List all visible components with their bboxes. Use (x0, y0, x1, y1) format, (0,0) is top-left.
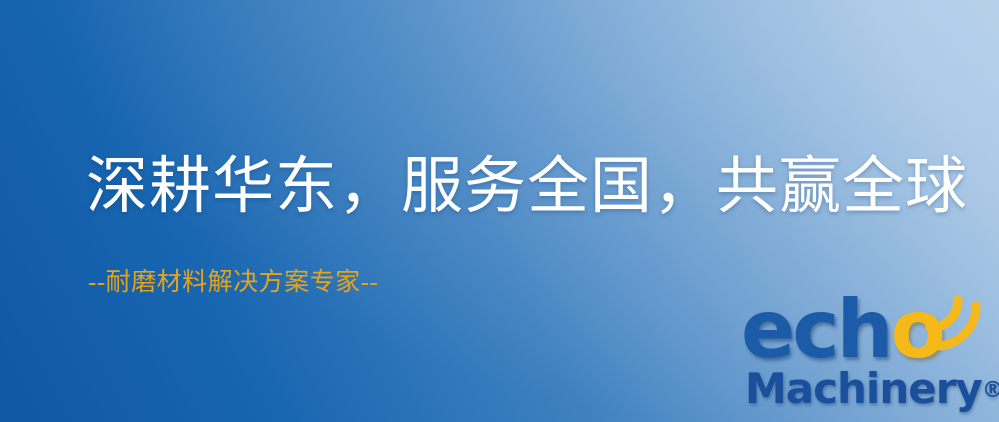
logo-echo-text: echo (741, 290, 943, 370)
registered-trademark-icon: ® (982, 378, 999, 403)
echo-machinery-logo: echo Machinery® (739, 294, 997, 422)
logo-echo-primary: ech (741, 283, 891, 376)
signal-arcs-icon (922, 292, 984, 354)
logo-tagline: Machinery® (745, 366, 999, 414)
banner-headline: 深耕华东，服务全国，共赢全球 (86, 155, 968, 220)
logo-tagline-text: Machinery (745, 364, 982, 413)
banner-subheadline: --耐磨材料解决方案专家-- (88, 268, 378, 298)
promo-banner: 深耕华东，服务全国，共赢全球 --耐磨材料解决方案专家-- echo Machi… (0, 0, 999, 422)
